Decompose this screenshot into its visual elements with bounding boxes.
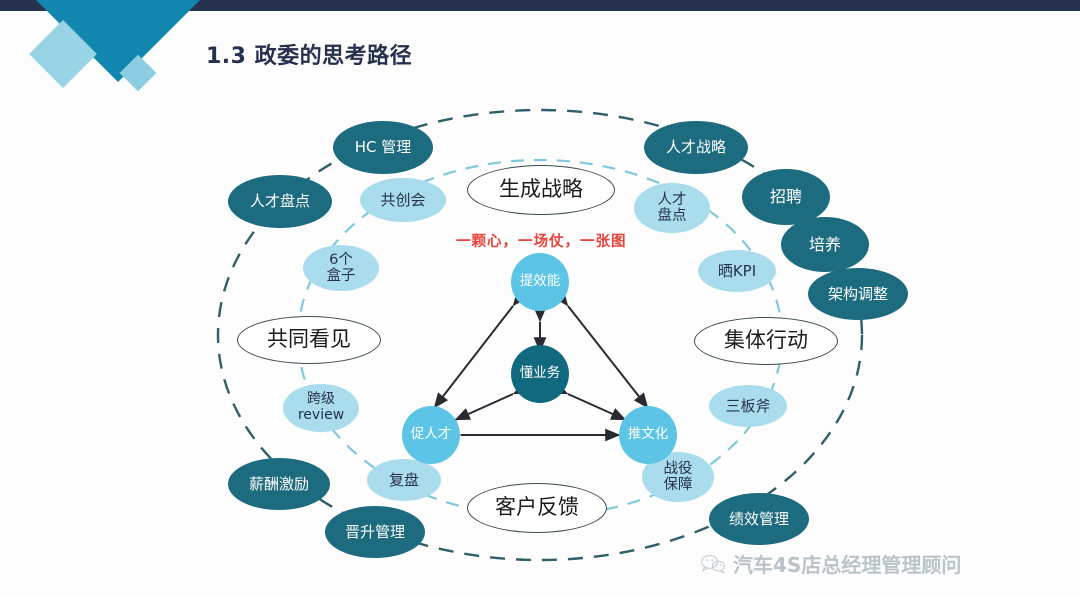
core-node-push-culture[interactable]: 推文化 xyxy=(619,406,677,464)
inner-node-talent-inventory[interactable]: 人才 盘点 xyxy=(634,183,710,233)
page-title: 1.3 政委的思考路径 xyxy=(206,38,412,70)
slide-root: 1.3 政委的思考路径 xyxy=(0,0,1080,608)
bottom-fade xyxy=(0,596,1080,608)
inner-node-three-axes[interactable]: 三板斧 xyxy=(709,385,787,427)
outer-node-promotion-management[interactable]: 晋升管理 xyxy=(325,506,425,558)
outer-node-structure-adjust[interactable]: 架构调整 xyxy=(808,268,908,320)
inner-node-six-boxes[interactable]: 6个 盒子 xyxy=(303,245,379,291)
outer-node-hc-management[interactable]: HC 管理 xyxy=(333,121,433,174)
watermark-label: 汽车4S店总经理管理顾问 xyxy=(733,549,961,578)
outer-node-talent-review[interactable]: 人才盘点 xyxy=(228,175,332,228)
core-node-improve-efficiency[interactable]: 提效能 xyxy=(511,253,569,311)
inner-node-show-kpi[interactable]: 晒KPI xyxy=(698,250,776,292)
wechat-icon xyxy=(700,554,726,574)
diagram-stage: 生成战略 共同看见 集体行动 客户反馈 HC 管理 人才盘点 人才战略 招聘 培… xyxy=(0,90,1080,590)
outer-node-talent-strategy[interactable]: 人才战略 xyxy=(644,121,748,174)
red-caption: 一颗心，一场仗，一张图 xyxy=(456,230,627,251)
core-node-understand-business[interactable]: 懂业务 xyxy=(511,345,569,403)
inner-node-co-creation-meeting[interactable]: 共创会 xyxy=(360,178,446,222)
stage-node-generate-strategy[interactable]: 生成战略 xyxy=(467,165,615,215)
inner-node-review-recap[interactable]: 复盘 xyxy=(367,459,441,501)
inner-node-skip-level-review[interactable]: 跨级 review xyxy=(283,384,359,432)
outer-node-compensation-incentive[interactable]: 薪酬激励 xyxy=(228,458,330,510)
stage-node-customer-feedback[interactable]: 客户反馈 xyxy=(467,483,607,533)
stage-node-see-together[interactable]: 共同看见 xyxy=(237,316,381,364)
watermark: 汽车4S店总经理管理顾问 xyxy=(700,549,961,578)
stage-node-collective-action[interactable]: 集体行动 xyxy=(694,317,838,365)
outer-node-training[interactable]: 培养 xyxy=(781,217,869,272)
core-node-promote-talent[interactable]: 促人才 xyxy=(402,406,460,464)
outer-node-performance-management[interactable]: 绩效管理 xyxy=(709,493,809,545)
